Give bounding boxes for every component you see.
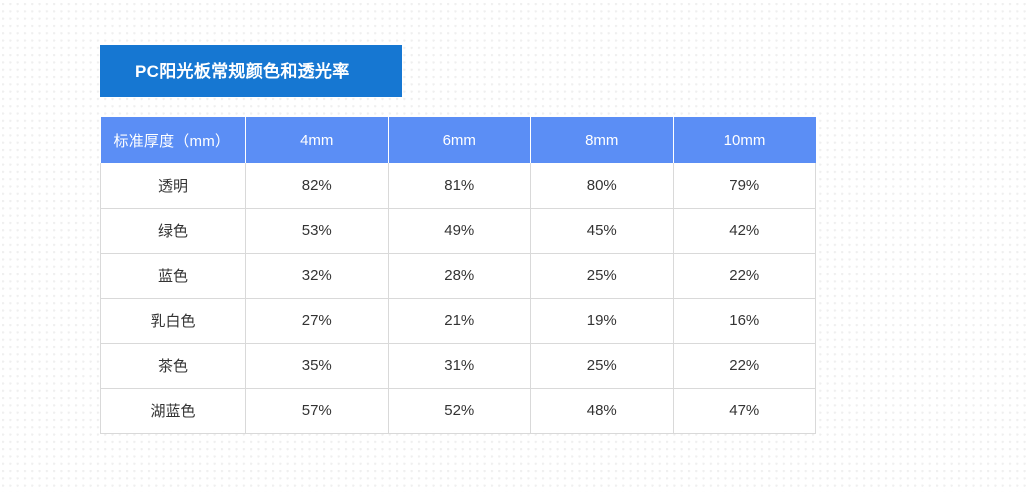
row-label-blue: 蓝色 xyxy=(101,253,246,298)
row-label-milky-white: 乳白色 xyxy=(101,298,246,343)
cell-value: 79% xyxy=(673,163,816,208)
cell-value: 47% xyxy=(673,388,816,433)
table-row: 绿色 53% 49% 45% 42% xyxy=(101,208,816,253)
table-row: 透明 82% 81% 80% 79% xyxy=(101,163,816,208)
cell-value: 22% xyxy=(673,343,816,388)
cell-value: 25% xyxy=(531,253,674,298)
row-label-lake-blue: 湖蓝色 xyxy=(101,388,246,433)
cell-value: 19% xyxy=(531,298,674,343)
column-header-10mm: 10mm xyxy=(673,117,816,163)
table-row: 蓝色 32% 28% 25% 22% xyxy=(101,253,816,298)
table-body: 透明 82% 81% 80% 79% 绿色 53% 49% 45% 42% 蓝色… xyxy=(101,163,816,433)
cell-value: 52% xyxy=(388,388,531,433)
cell-value: 42% xyxy=(673,208,816,253)
cell-value: 32% xyxy=(246,253,389,298)
cell-value: 45% xyxy=(531,208,674,253)
cell-value: 28% xyxy=(388,253,531,298)
table-header-row: 标准厚度（mm） 4mm 6mm 8mm 10mm xyxy=(101,117,816,163)
cell-value: 35% xyxy=(246,343,389,388)
cell-value: 49% xyxy=(388,208,531,253)
transmittance-table: 标准厚度（mm） 4mm 6mm 8mm 10mm 透明 82% 81% 80%… xyxy=(100,117,816,434)
cell-value: 57% xyxy=(246,388,389,433)
table-row: 湖蓝色 57% 52% 48% 47% xyxy=(101,388,816,433)
cell-value: 21% xyxy=(388,298,531,343)
column-header-4mm: 4mm xyxy=(246,117,389,163)
cell-value: 81% xyxy=(388,163,531,208)
row-label-brown: 茶色 xyxy=(101,343,246,388)
table-row: 乳白色 27% 21% 19% 16% xyxy=(101,298,816,343)
page-root: PC阳光板常规颜色和透光率 标准厚度（mm） 4mm 6mm 8mm 10mm … xyxy=(0,0,1030,492)
cell-value: 82% xyxy=(246,163,389,208)
title-banner: PC阳光板常规颜色和透光率 xyxy=(100,45,402,97)
cell-value: 53% xyxy=(246,208,389,253)
table-header: 标准厚度（mm） 4mm 6mm 8mm 10mm xyxy=(101,117,816,163)
cell-value: 16% xyxy=(673,298,816,343)
row-label-transparent: 透明 xyxy=(101,163,246,208)
column-header-8mm: 8mm xyxy=(531,117,674,163)
cell-value: 48% xyxy=(531,388,674,433)
cell-value: 31% xyxy=(388,343,531,388)
column-header-6mm: 6mm xyxy=(388,117,531,163)
page-title: PC阳光板常规颜色和透光率 xyxy=(100,63,350,80)
column-header-thickness: 标准厚度（mm） xyxy=(101,117,246,163)
cell-value: 80% xyxy=(531,163,674,208)
cell-value: 22% xyxy=(673,253,816,298)
row-label-green: 绿色 xyxy=(101,208,246,253)
table-row: 茶色 35% 31% 25% 22% xyxy=(101,343,816,388)
cell-value: 27% xyxy=(246,298,389,343)
cell-value: 25% xyxy=(531,343,674,388)
